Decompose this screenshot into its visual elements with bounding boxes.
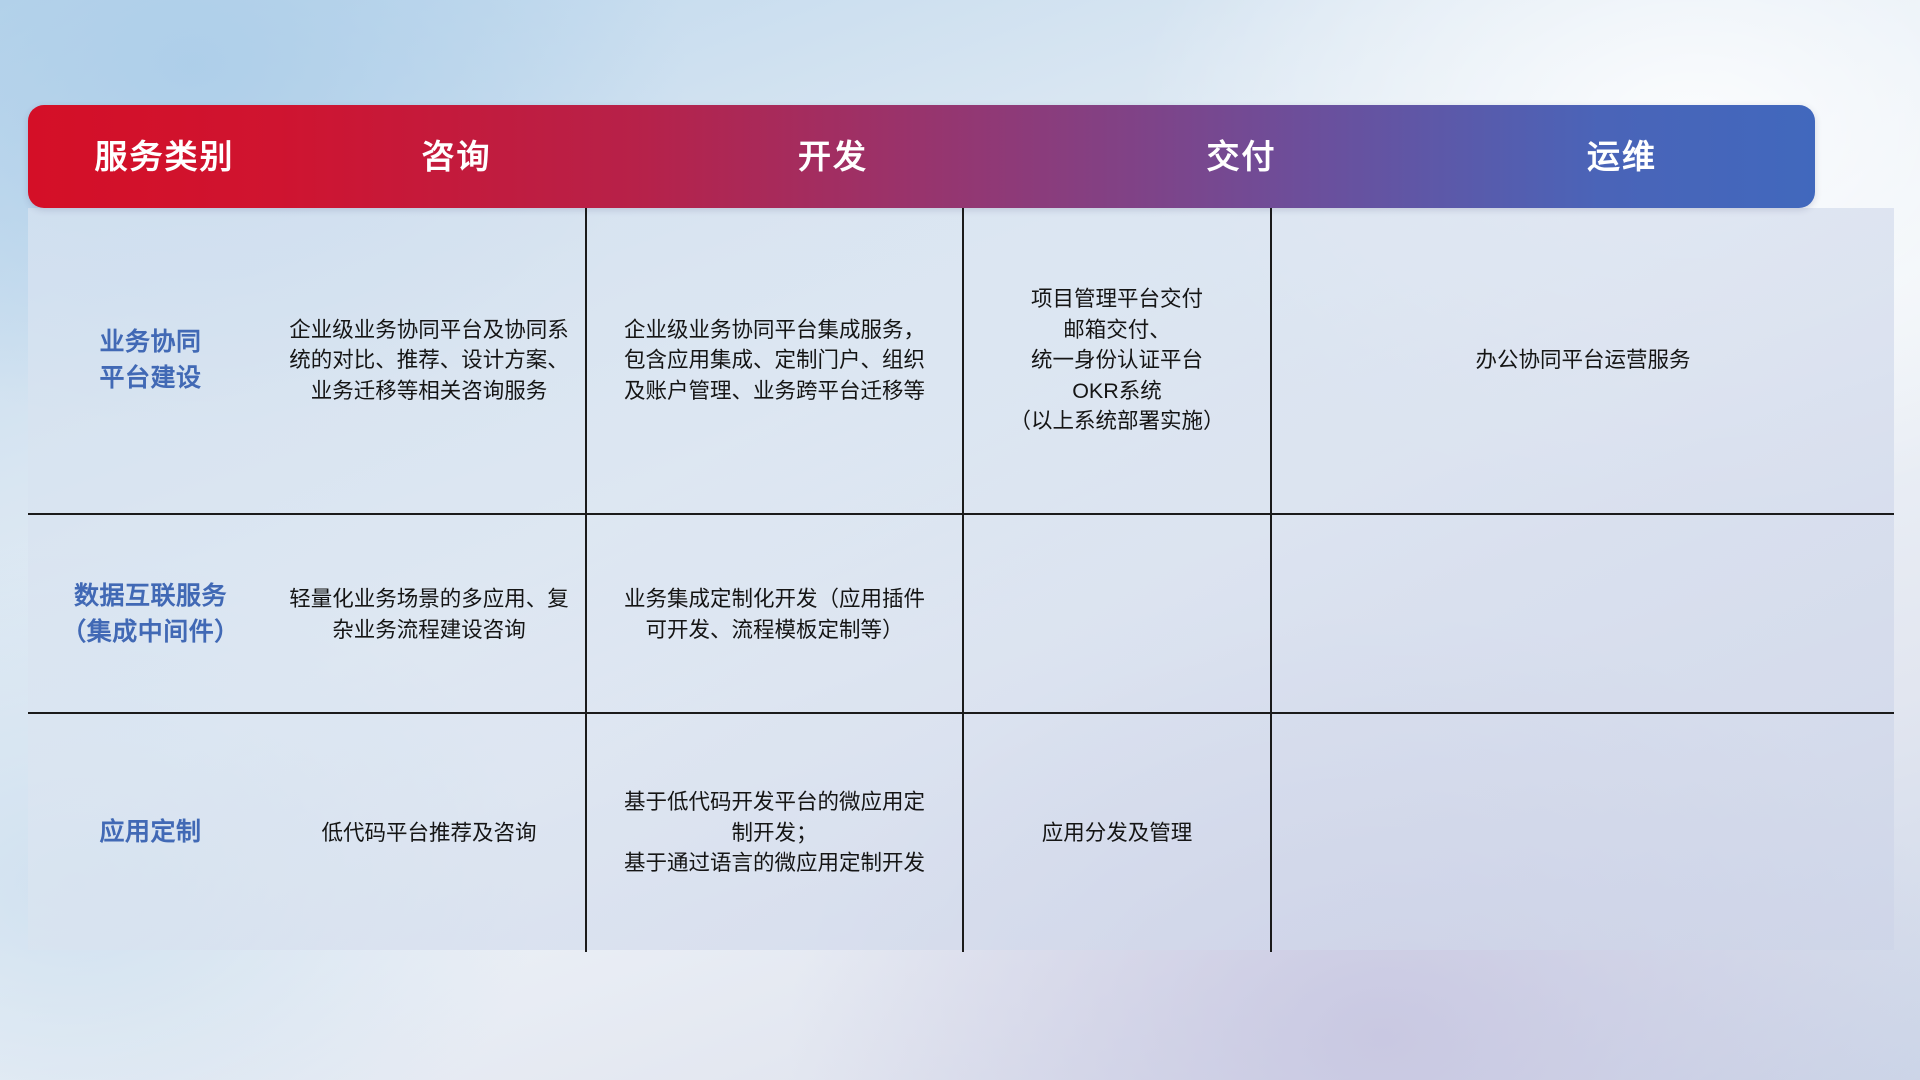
cell-development: 基于低代码开发平台的微应用定 制开发； 基于通过语言的微应用定制开发 [585,714,962,952]
cell-operations: 办公协同平台运营服务 [1270,208,1894,513]
service-matrix-table: 服务类别 咨询 开发 交付 运维 业务协同 平台建设 企业级业务协同平台及协同系… [28,105,1894,950]
column-header-development: 开发 [612,140,1054,173]
cell-operations [1270,515,1894,714]
cell-delivery: 项目管理平台交付 邮箱交付、 统一身份认证平台 OKR系统 （以上系统部署实施） [962,208,1270,513]
column-header-consulting: 咨询 [301,140,612,173]
table-row: 业务协同 平台建设 企业级业务协同平台及协同系 统的对比、推荐、设计方案、 业务… [28,208,1894,513]
cell-delivery [962,515,1270,714]
cell-delivery: 应用分发及管理 [962,714,1270,952]
cell-consulting: 低代码平台推荐及咨询 [273,714,585,952]
column-header-delivery: 交付 [1054,140,1429,173]
cell-category: 数据互联服务 （集成中间件） [28,515,273,714]
cell-consulting: 轻量化业务场景的多应用、复 杂业务流程建设咨询 [273,515,585,714]
cell-operations [1270,714,1894,952]
column-header-operations: 运维 [1429,140,1815,173]
table-row: 数据互联服务 （集成中间件） 轻量化业务场景的多应用、复 杂业务流程建设咨询 业… [28,513,1894,714]
cell-category: 业务协同 平台建设 [28,208,273,513]
table-grid: 业务协同 平台建设 企业级业务协同平台及协同系 统的对比、推荐、设计方案、 业务… [28,208,1894,950]
cell-development: 业务集成定制化开发（应用插件 可开发、流程模板定制等） [585,515,962,714]
column-header-service-category: 服务类别 [28,140,301,173]
slide-canvas: 服务类别 咨询 开发 交付 运维 业务协同 平台建设 企业级业务协同平台及协同系… [0,0,1920,1080]
table-row: 应用定制 低代码平台推荐及咨询 基于低代码开发平台的微应用定 制开发； 基于通过… [28,712,1894,952]
table-header-row: 服务类别 咨询 开发 交付 运维 [28,105,1815,208]
cell-development: 企业级业务协同平台集成服务， 包含应用集成、定制门户、组织 及账户管理、业务跨平… [585,208,962,513]
cell-consulting: 企业级业务协同平台及协同系 统的对比、推荐、设计方案、 业务迁移等相关咨询服务 [273,208,585,513]
cell-category: 应用定制 [28,714,273,952]
